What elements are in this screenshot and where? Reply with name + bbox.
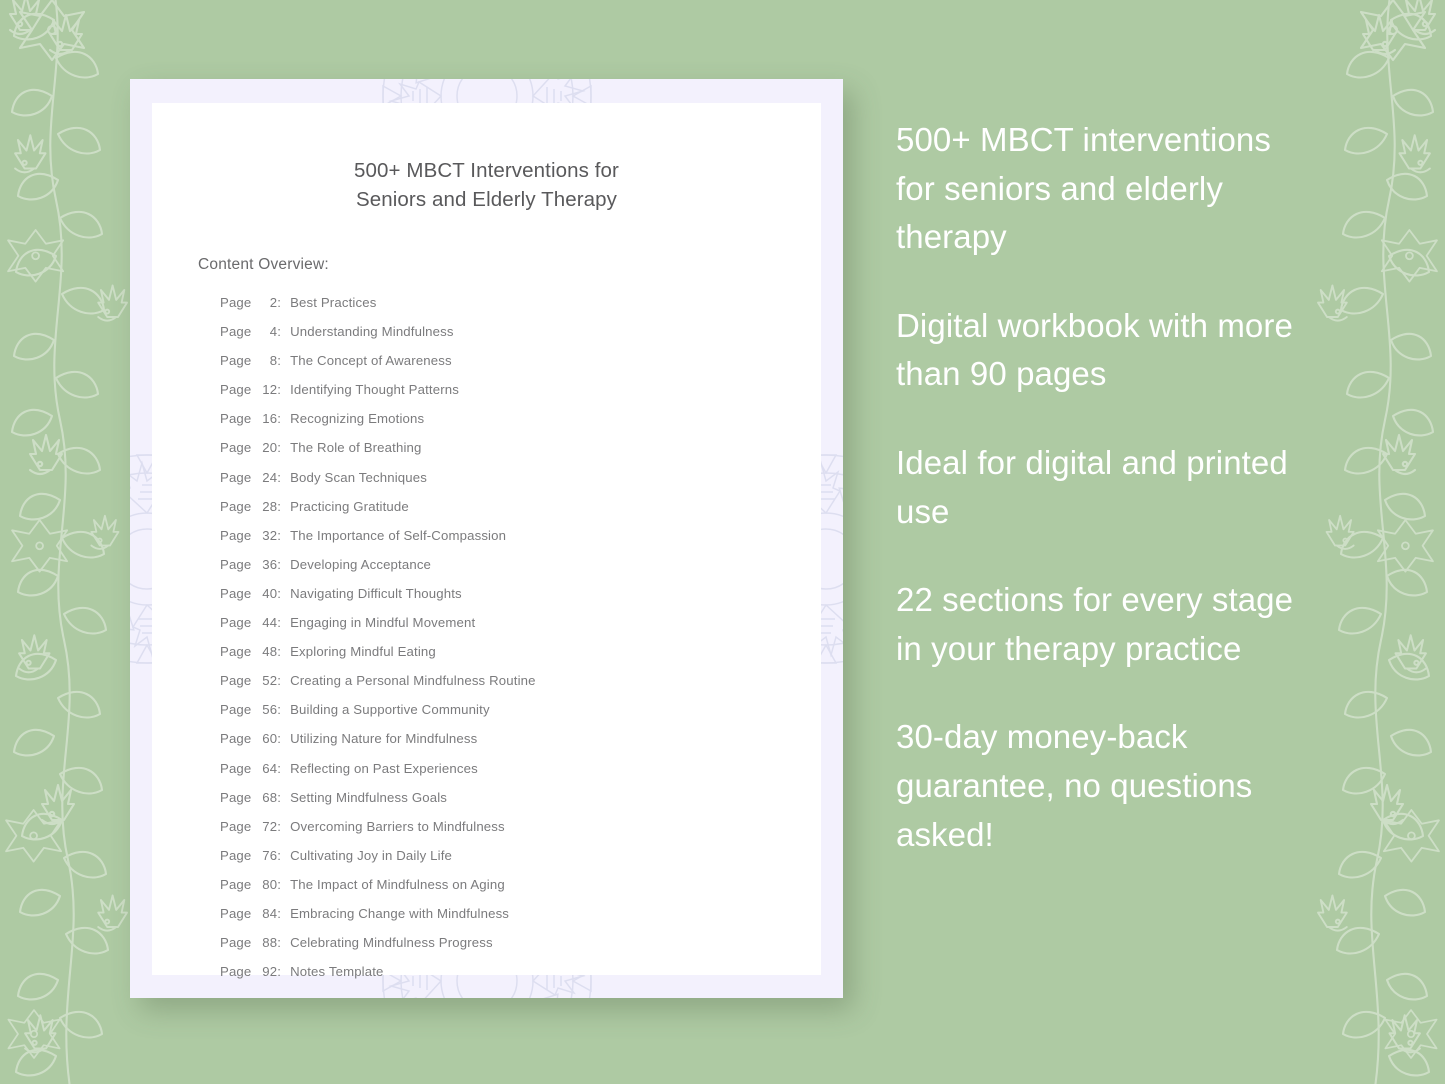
toc-page-word: Page [220,615,251,630]
toc-entry-page: Page 2: [220,288,281,317]
toc-colon: : [277,819,281,834]
toc-entry-page: Page 72: [220,812,281,841]
toc-colon: : [277,586,281,601]
toc-colon: : [277,557,281,572]
toc-colon: : [277,761,281,776]
toc-entry-page: Page 84: [220,899,281,928]
toc-entry[interactable]: Page 88:Celebrating Mindfulness Progress [220,928,821,957]
toc-entry-page: Page 12: [220,375,281,404]
toc-entry[interactable]: Page 24:Body Scan Techniques [220,463,821,492]
toc-colon: : [277,382,281,397]
toc-entry-title: Engaging in Mindful Movement [290,608,475,637]
toc-page-number: 4 [255,317,277,346]
toc-page-word: Page [220,935,251,950]
toc-entry-title: Understanding Mindfulness [290,317,454,346]
toc-page-number: 12 [255,375,277,404]
toc-entry-title: Practicing Gratitude [290,492,409,521]
toc-entry-page: Page 68: [220,783,281,812]
toc-page-word: Page [220,324,251,339]
toc-page-word: Page [220,731,251,746]
workbook-page-sheet: 500+ MBCT Interventions for Seniors and … [152,103,821,975]
toc-colon: : [277,702,281,717]
toc-entry[interactable]: Page 72:Overcoming Barriers to Mindfulne… [220,812,821,841]
toc-page-number: 80 [255,870,277,899]
toc-entry[interactable]: Page 76:Cultivating Joy in Daily Life [220,841,821,870]
toc-entry[interactable]: Page 12:Identifying Thought Patterns [220,375,821,404]
toc-page-word: Page [220,470,251,485]
toc-entry-page: Page 48: [220,637,281,666]
toc-page-word: Page [220,877,251,892]
toc-entry[interactable]: Page 4:Understanding Mindfulness [220,317,821,346]
toc-colon: : [277,673,281,688]
toc-page-number: 56 [255,695,277,724]
toc-colon: : [277,440,281,455]
toc-page-number: 8 [255,346,277,375]
toc-colon: : [277,615,281,630]
toc-colon: : [277,499,281,514]
toc-page-number: 44 [255,608,277,637]
toc-page-number: 72 [255,812,277,841]
toc-entry-page: Page 28: [220,492,281,521]
marketing-bullets: 500+ MBCT interventions for seniors and … [896,116,1316,859]
toc-page-number: 40 [255,579,277,608]
toc-entry[interactable]: Page 48:Exploring Mindful Eating [220,637,821,666]
toc-entry-title: Embracing Change with Mindfulness [290,899,509,928]
toc-entry-page: Page 64: [220,754,281,783]
table-of-contents: Page 2:Best PracticesPage 4:Understandin… [220,288,821,986]
toc-entry[interactable]: Page 28:Practicing Gratitude [220,492,821,521]
toc-colon: : [277,935,281,950]
workbook-preview-card[interactable]: 500+ MBCT Interventions for Seniors and … [130,79,843,998]
toc-entry-title: Recognizing Emotions [290,404,424,433]
toc-entry-page: Page 88: [220,928,281,957]
toc-page-number: 76 [255,841,277,870]
toc-entry[interactable]: Page 36:Developing Acceptance [220,550,821,579]
toc-entry-title: Cultivating Joy in Daily Life [290,841,452,870]
toc-page-word: Page [220,848,251,863]
toc-page-word: Page [220,586,251,601]
toc-page-word: Page [220,557,251,572]
toc-colon: : [277,790,281,805]
toc-colon: : [277,353,281,368]
poster-canvas: 500+ MBCT Interventions for Seniors and … [0,0,1445,1084]
toc-entry-page: Page 8: [220,346,281,375]
toc-page-word: Page [220,528,251,543]
toc-entry-title: Body Scan Techniques [290,463,427,492]
toc-entry-page: Page 16: [220,404,281,433]
toc-page-word: Page [220,382,251,397]
toc-page-number: 84 [255,899,277,928]
toc-page-word: Page [220,353,251,368]
toc-colon: : [277,906,281,921]
toc-entry-title: Utilizing Nature for Mindfulness [290,724,477,753]
toc-page-number: 24 [255,463,277,492]
toc-entry[interactable]: Page 20:The Role of Breathing [220,433,821,462]
marketing-bullet: Digital workbook with more than 90 pages [896,302,1316,399]
toc-colon: : [277,295,281,310]
toc-colon: : [277,731,281,746]
marketing-bullet: Ideal for digital and printed use [896,439,1316,536]
toc-entry-page: Page 44: [220,608,281,637]
toc-entry-title: Building a Supportive Community [290,695,490,724]
toc-page-number: 60 [255,724,277,753]
toc-page-number: 32 [255,521,277,550]
toc-entry-title: The Role of Breathing [290,433,421,462]
toc-entry[interactable]: Page 84:Embracing Change with Mindfulnes… [220,899,821,928]
toc-entry[interactable]: Page 60:Utilizing Nature for Mindfulness [220,724,821,753]
content-overview-label: Content Overview: [198,256,821,274]
toc-entry-title: Creating a Personal Mindfulness Routine [290,666,536,695]
toc-page-word: Page [220,644,251,659]
toc-page-number: 48 [255,637,277,666]
toc-colon: : [277,964,281,979]
toc-page-word: Page [220,673,251,688]
toc-entry-title: Notes Template [290,957,383,986]
toc-entry-title: Best Practices [290,288,376,317]
marketing-bullet: 22 sections for every stage in your ther… [896,576,1316,673]
toc-page-word: Page [220,906,251,921]
toc-entry[interactable]: Page 40:Navigating Difficult Thoughts [220,579,821,608]
toc-entry[interactable]: Page 44:Engaging in Mindful Movement [220,608,821,637]
toc-page-word: Page [220,819,251,834]
toc-entry-title: The Concept of Awareness [290,346,452,375]
toc-entry-page: Page 52: [220,666,281,695]
toc-entry-title: Overcoming Barriers to Mindfulness [290,812,505,841]
toc-entry-page: Page 40: [220,579,281,608]
toc-colon: : [277,470,281,485]
toc-colon: : [277,411,281,426]
toc-page-number: 52 [255,666,277,695]
toc-entry-page: Page 4: [220,317,281,346]
toc-page-number: 64 [255,754,277,783]
toc-colon: : [277,877,281,892]
toc-colon: : [277,848,281,863]
toc-entry-title: The Impact of Mindfulness on Aging [290,870,505,899]
toc-entry-page: Page 92: [220,957,281,986]
toc-entry[interactable]: Page 68:Setting Mindfulness Goals [220,783,821,812]
toc-page-number: 20 [255,433,277,462]
floral-vine-border-right-icon [1303,0,1445,1084]
page-title: 500+ MBCT Interventions for Seniors and … [152,156,821,214]
toc-page-number: 2 [255,288,277,317]
toc-entry[interactable]: Page 32:The Importance of Self-Compassio… [220,521,821,550]
toc-page-word: Page [220,702,251,717]
toc-page-word: Page [220,964,251,979]
toc-colon: : [277,324,281,339]
toc-entry[interactable]: Page 2:Best Practices [220,288,821,317]
toc-entry[interactable]: Page 80:The Impact of Mindfulness on Agi… [220,870,821,899]
toc-entry-page: Page 60: [220,724,281,753]
toc-page-number: 68 [255,783,277,812]
toc-entry-title: Identifying Thought Patterns [290,375,459,404]
toc-page-word: Page [220,440,251,455]
toc-entry-page: Page 80: [220,870,281,899]
toc-page-word: Page [220,790,251,805]
toc-page-word: Page [220,295,251,310]
toc-entry[interactable]: Page 92:Notes Template [220,957,821,986]
toc-colon: : [277,528,281,543]
toc-page-number: 88 [255,928,277,957]
toc-entry-page: Page 56: [220,695,281,724]
toc-page-number: 36 [255,550,277,579]
toc-entry[interactable]: Page 16:Recognizing Emotions [220,404,821,433]
marketing-bullet: 30-day money-back guarantee, no question… [896,713,1316,859]
toc-entry[interactable]: Page 64:Reflecting on Past Experiences [220,754,821,783]
toc-page-word: Page [220,411,251,426]
toc-entry-page: Page 36: [220,550,281,579]
toc-entry-title: Setting Mindfulness Goals [290,783,447,812]
toc-entry-title: Developing Acceptance [290,550,431,579]
toc-colon: : [277,644,281,659]
toc-entry-page: Page 20: [220,433,281,462]
toc-entry-title: Reflecting on Past Experiences [290,754,478,783]
toc-entry-title: Exploring Mindful Eating [290,637,436,666]
toc-page-number: 16 [255,404,277,433]
floral-vine-border-left-icon [0,0,142,1084]
toc-entry-page: Page 32: [220,521,281,550]
toc-entry[interactable]: Page 52:Creating a Personal Mindfulness … [220,666,821,695]
toc-entry-page: Page 24: [220,463,281,492]
toc-page-word: Page [220,499,251,514]
toc-page-number: 92 [255,957,277,986]
toc-entry-title: Navigating Difficult Thoughts [290,579,462,608]
toc-entry-title: Celebrating Mindfulness Progress [290,928,493,957]
toc-entry-page: Page 76: [220,841,281,870]
toc-entry-title: The Importance of Self-Compassion [290,521,506,550]
toc-page-number: 28 [255,492,277,521]
toc-entry[interactable]: Page 8:The Concept of Awareness [220,346,821,375]
marketing-bullet: 500+ MBCT interventions for seniors and … [896,116,1316,262]
toc-page-word: Page [220,761,251,776]
toc-entry[interactable]: Page 56:Building a Supportive Community [220,695,821,724]
